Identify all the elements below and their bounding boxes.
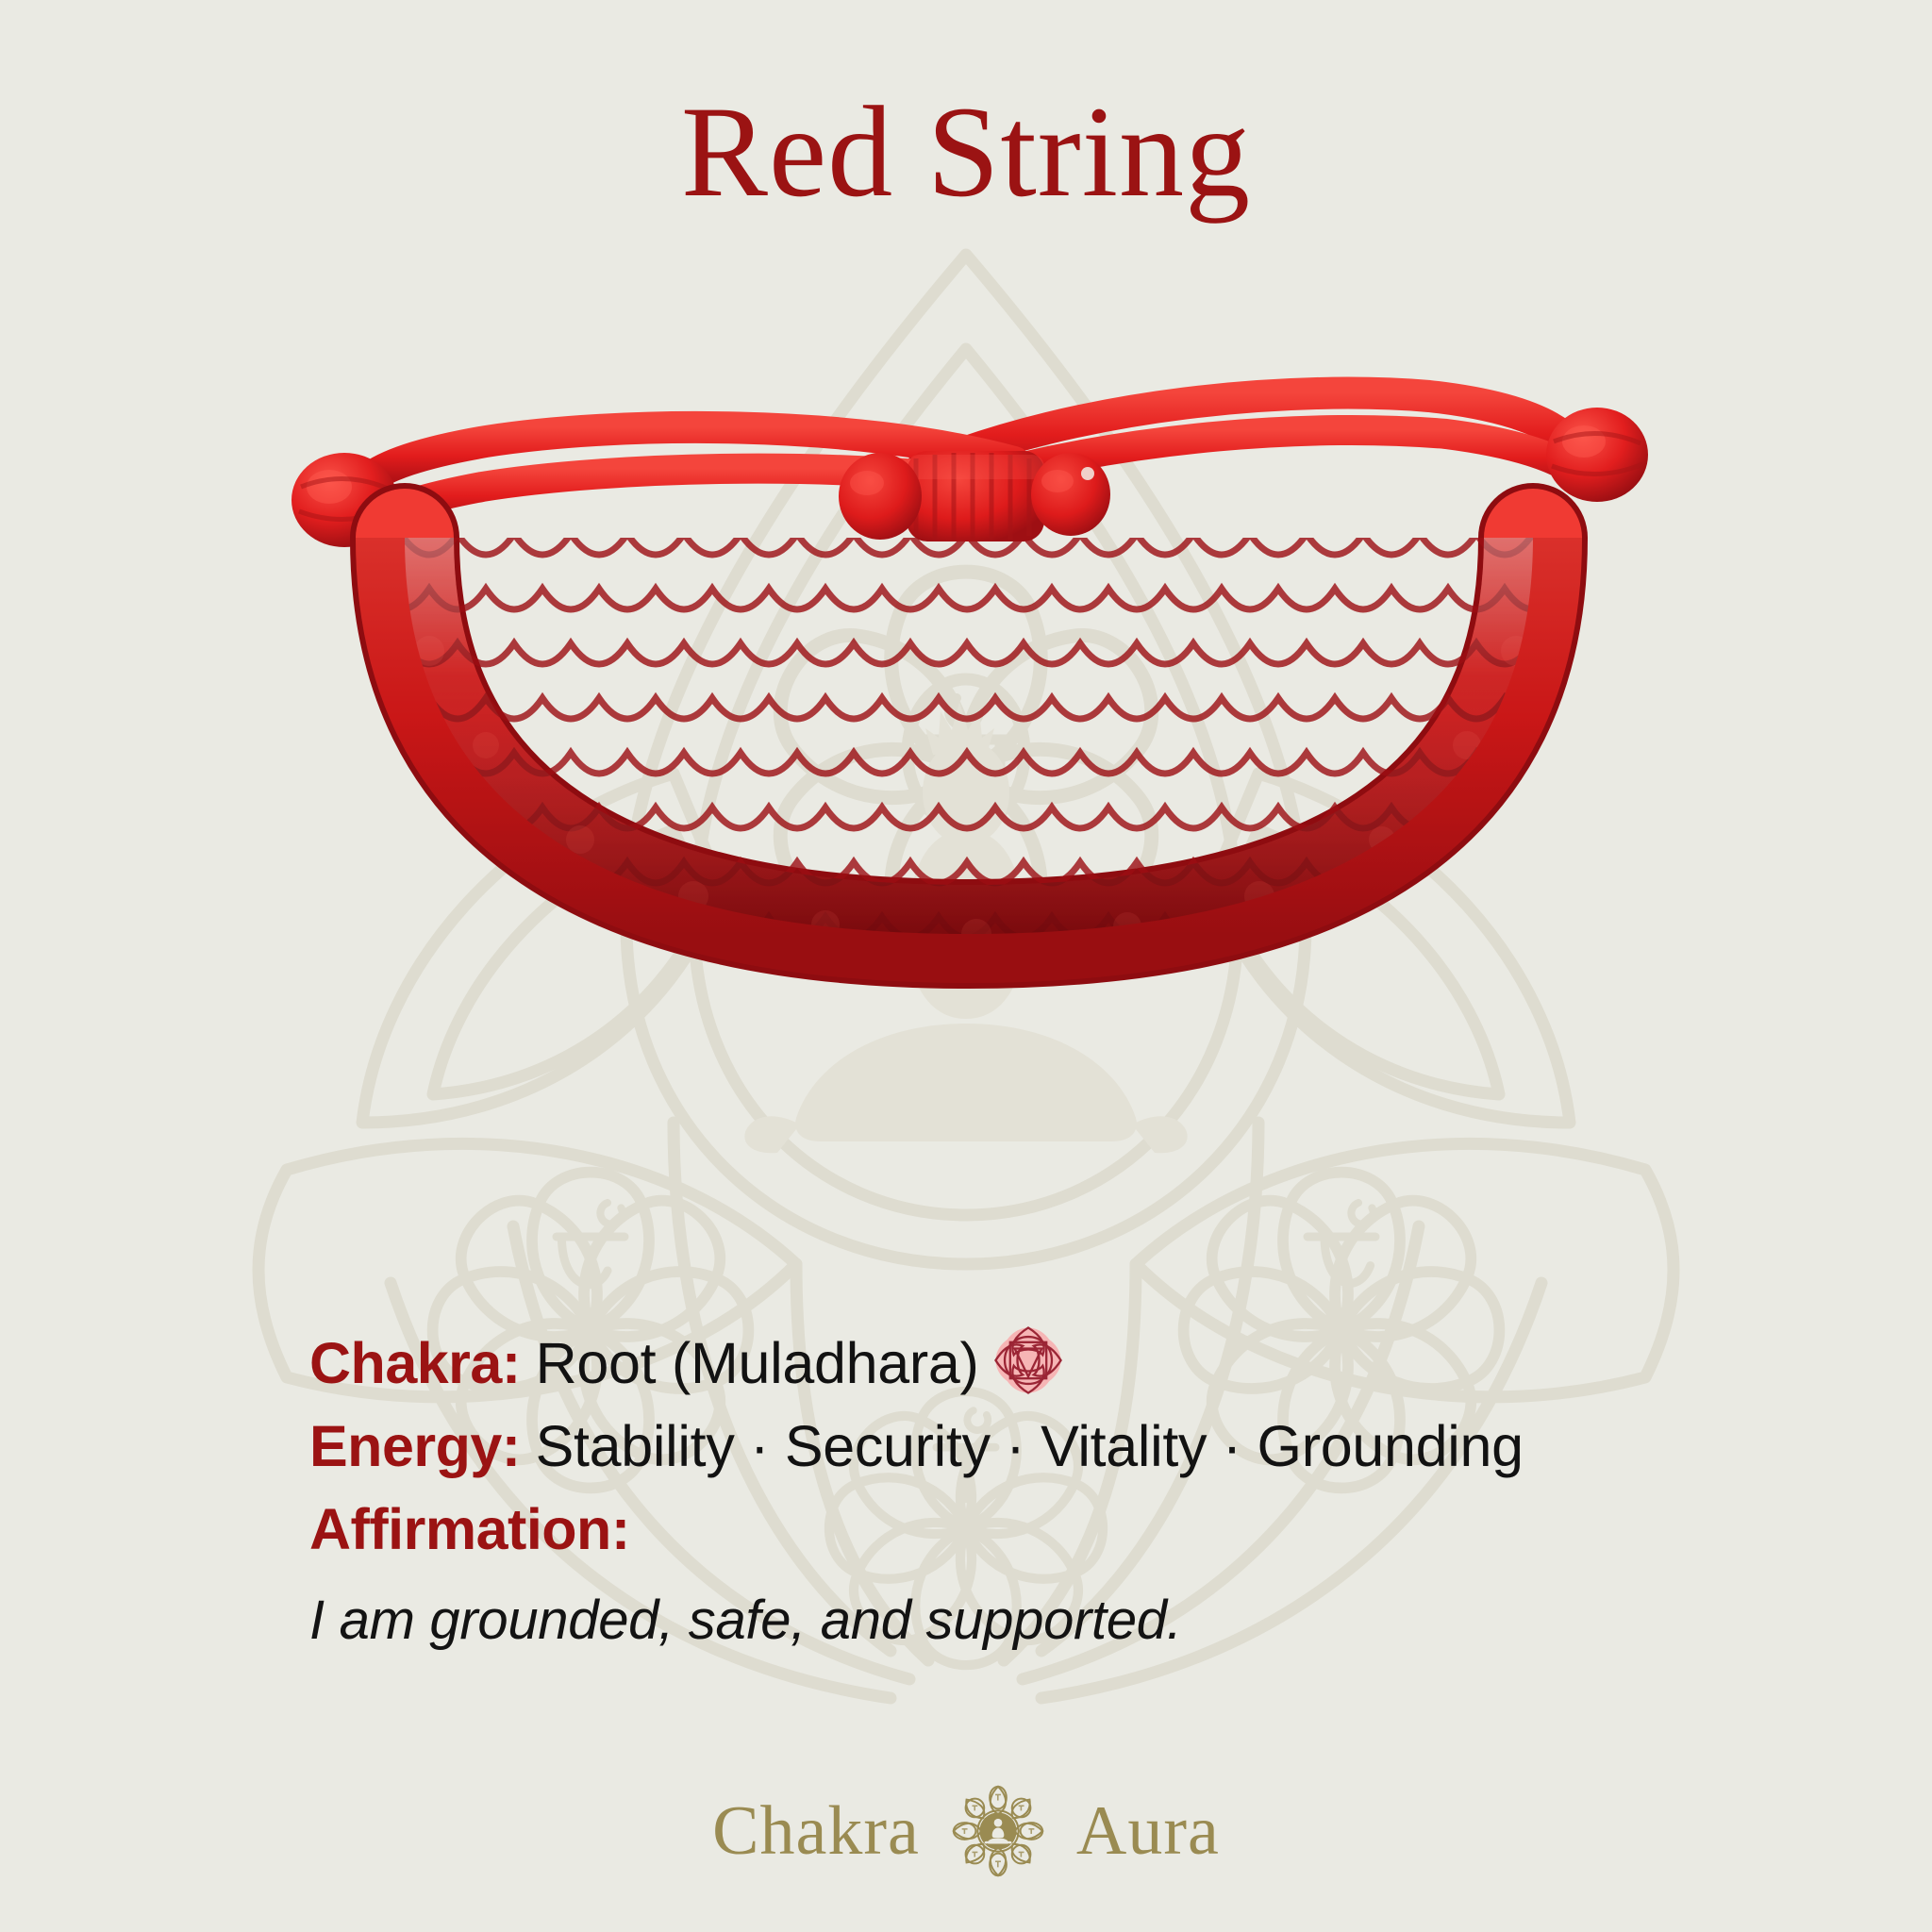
- chakra-label: Chakra:: [309, 1330, 521, 1396]
- brand-footer: Chakra: [0, 1775, 1932, 1887]
- brand-name-first: Chakra: [712, 1796, 920, 1866]
- page-title: Red String: [0, 81, 1932, 222]
- cord-end-bead-right: [1546, 408, 1648, 502]
- affirmation-label: Affirmation:: [309, 1496, 630, 1562]
- center-knot: [839, 451, 1110, 541]
- energy-label: Energy:: [309, 1413, 521, 1479]
- braided-band: [316, 425, 1731, 992]
- muladhara-chakra-icon: [983, 1315, 1074, 1406]
- affirmation-row: Affirmation:: [309, 1496, 1857, 1562]
- meditating-figure-watermark: [744, 702, 1187, 1153]
- energy-row: Energy: Stability · Security · Vitality …: [309, 1413, 1857, 1479]
- chakra-info-block: Chakra: Root (Muladhara): [309, 1292, 1857, 1652]
- chakra-value: Root (Muladhara): [536, 1330, 979, 1396]
- brand-name-second: Aura: [1076, 1796, 1220, 1866]
- product-card: Red String: [0, 0, 1932, 1932]
- red-string-bracelet-image: [203, 368, 1736, 1009]
- lotus-mandala-logo: [942, 1775, 1054, 1887]
- affirmation-text: I am grounded, safe, and supported.: [309, 1589, 1857, 1652]
- chakra-row: Chakra: Root (Muladhara): [309, 1292, 1857, 1396]
- cord-end-bead-left: [291, 453, 397, 547]
- energy-value: Stability · Security · Vitality · Ground…: [536, 1413, 1524, 1479]
